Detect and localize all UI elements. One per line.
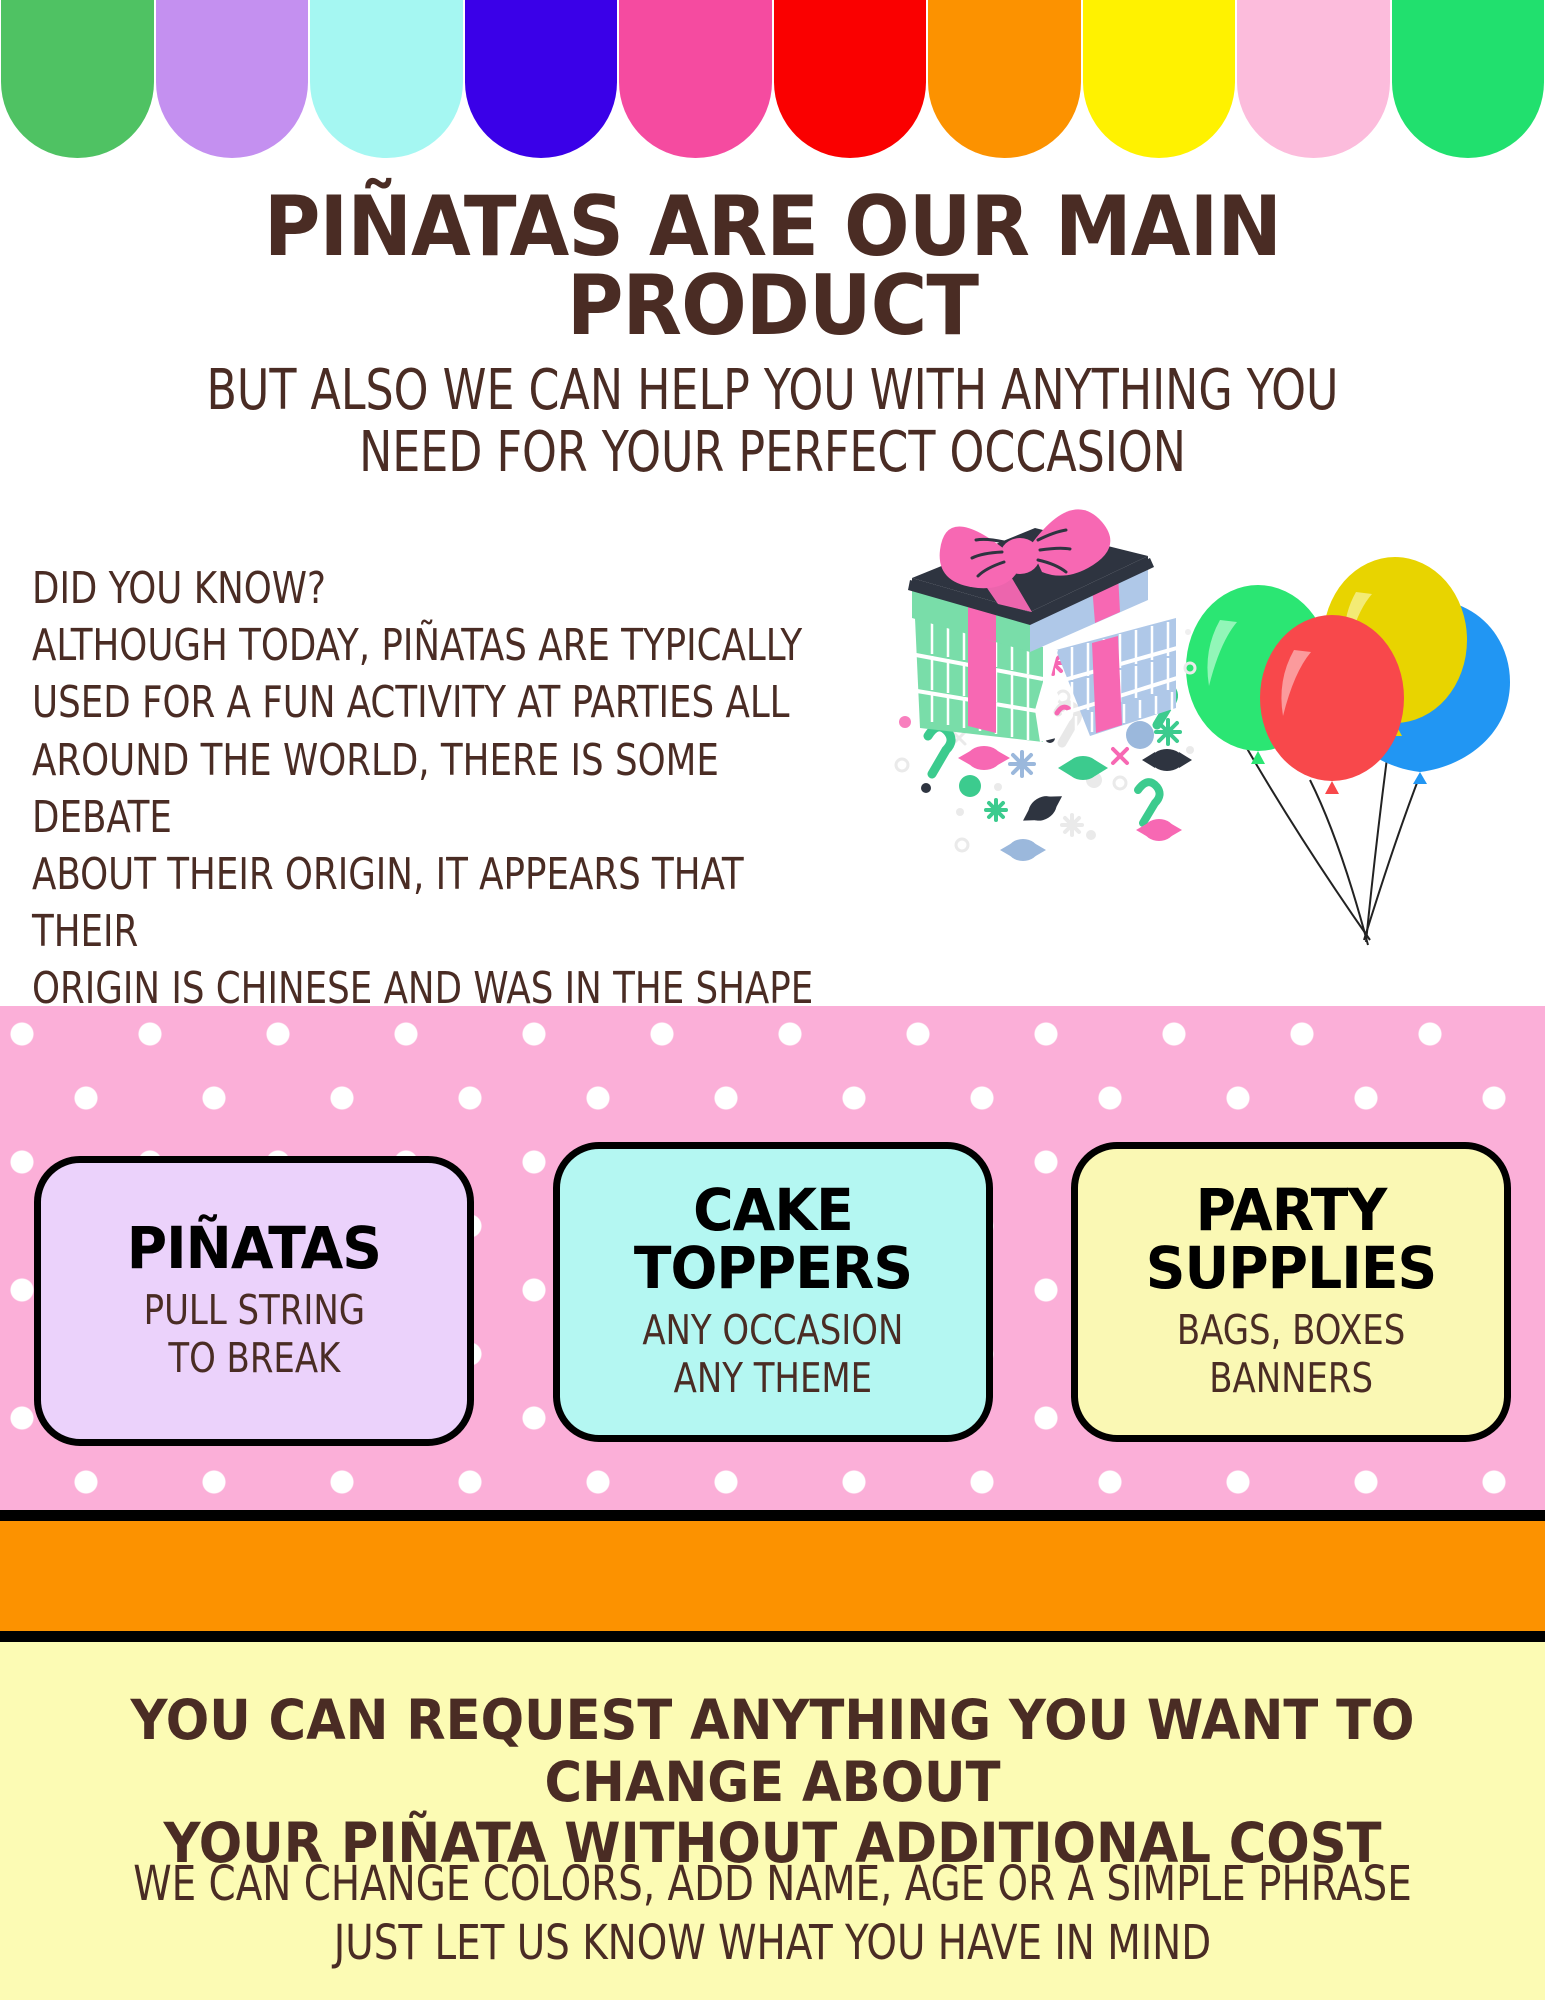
footer-subtext: WE CAN CHANGE COLORS, ADD NAME, AGE OR A… [77,1855,1468,1972]
card-party-supplies[interactable]: PARTY SUPPLIES BAGS, BOXES BANNERS [1071,1142,1511,1442]
card-party-supplies-sub-line-2: BANNERS [1177,1355,1405,1403]
footer-sub-line-2: JUST LET US KNOW WHAT YOU HAVE IN MIND [113,1914,1432,1973]
orange-divider-band [0,1510,1545,1642]
scalloped-color-banner [0,0,1545,158]
card-pinatas-sub-line-2: TO BREAK [143,1335,364,1383]
card-cake-toppers-sub-line-2: ANY THEME [642,1355,903,1403]
candy-pink-1 [958,746,1010,770]
page-title: PIÑATAS ARE OUR MAIN PRODUCT [54,188,1491,346]
page-subtitle: BUT ALSO WE CAN HELP YOU WITH ANYTHING Y… [93,360,1453,485]
did-you-know-line-4: ABOUT THEIR ORIGIN, IT APPEARS THAT THEI… [32,846,847,960]
scallop-9 [1237,0,1390,158]
scallop-3 [310,0,463,158]
subtitle-line-1: BUT ALSO WE CAN HELP YOU WITH ANYTHING Y… [163,360,1382,423]
card-pinatas-subtitle: PULL STRING TO BREAK [143,1287,364,1382]
scallop-7 [928,0,1081,158]
card-cake-toppers-sub-line-1: ANY OCCASION [642,1307,903,1355]
scallop-5 [619,0,772,158]
flyer-page: PIÑATAS ARE OUR MAIN PRODUCT BUT ALSO WE… [0,0,1545,2000]
balloon-red [1260,615,1404,794]
candy-dark-2 [1017,787,1068,830]
balloon-bunch-illustration [1180,540,1510,960]
scallop-2 [156,0,309,158]
did-you-know-heading: DID YOU KNOW? [32,560,847,617]
did-you-know-line-3: AROUND THE WORLD, THERE IS SOME DEBATE [32,732,847,846]
scallop-1 [1,0,154,158]
did-you-know-line-1: ALTHOUGH TODAY, PIÑATAS ARE TYPICALLY [32,617,847,674]
did-you-know-line-2: USED FOR A FUN ACTIVITY AT PARTIES ALL [32,674,847,731]
card-party-supplies-subtitle: BAGS, BOXES BANNERS [1177,1307,1405,1402]
scallop-4 [465,0,618,158]
card-cake-toppers-subtitle: ANY OCCASION ANY THEME [642,1307,903,1402]
card-pinatas-title: PIÑATAS [127,1219,381,1277]
card-party-supplies-title: PARTY SUPPLIES [1104,1181,1478,1297]
scallop-8 [1083,0,1236,158]
decor-dot [1185,629,1191,635]
card-cake-toppers[interactable]: CAKE TOPPERS ANY OCCASION ANY THEME [553,1142,993,1442]
card-cake-toppers-title: CAKE TOPPERS [585,1181,959,1297]
footer-sub-line-1: WE CAN CHANGE COLORS, ADD NAME, AGE OR A… [113,1855,1432,1914]
footer-headline-line-1: YOU CAN REQUEST ANYTHING YOU WANT TO CHA… [80,1690,1465,1813]
service-cards-row: PIÑATAS PULL STRING TO BREAK CAKE TOPPER… [0,1142,1545,1452]
card-pinatas[interactable]: PIÑATAS PULL STRING TO BREAK [34,1156,474,1446]
scallop-10 [1392,0,1545,158]
card-party-supplies-sub-line-1: BAGS, BOXES [1177,1307,1405,1355]
scallop-6 [774,0,927,158]
header-block: PIÑATAS ARE OUR MAIN PRODUCT BUT ALSO WE… [0,188,1545,485]
illustration-group [880,470,1520,890]
card-pinatas-sub-line-1: PULL STRING [143,1287,364,1335]
candy-blue-1 [1000,839,1046,861]
footer-headline: YOU CAN REQUEST ANYTHING YOU WANT TO CHA… [54,1690,1491,1875]
